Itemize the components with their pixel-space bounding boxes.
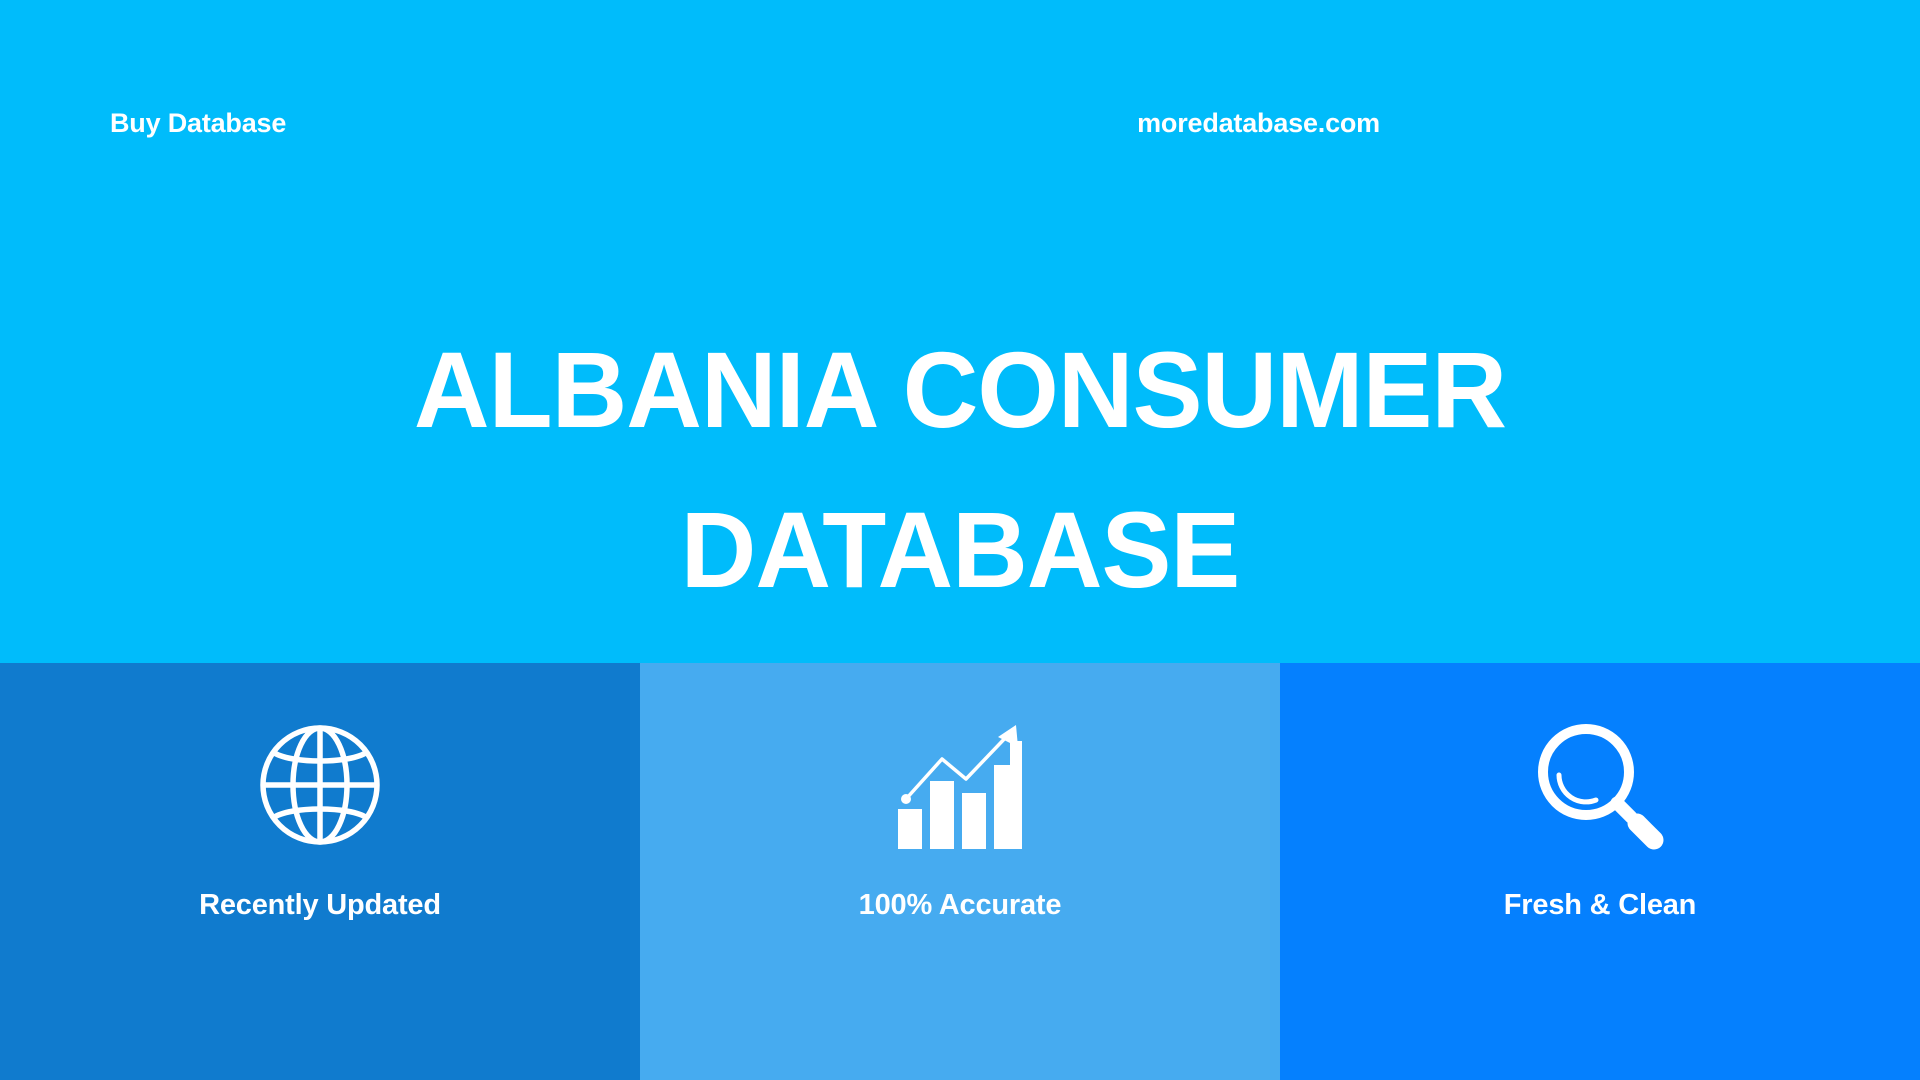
brand-left-label: Buy Database [110,108,286,139]
feature-panel-row: Recently Updated [0,663,1920,1080]
website-url-label: moredatabase.com [1137,108,1380,139]
promo-banner-canvas: Buy Database moredatabase.com ALBANIA CO… [0,0,1920,1080]
growth-chart-icon [892,715,1028,855]
feature-panel-accurate: 100% Accurate [640,663,1280,1080]
feature-panel-recently-updated: Recently Updated [0,663,640,1080]
feature-label-recently-updated: Recently Updated [199,889,441,922]
magnifier-icon [1533,715,1667,855]
globe-icon [256,715,384,855]
page-title: ALBANIA CONSUMER DATABASE [29,310,1891,630]
page-title-line-2: DATABASE [29,470,1891,630]
hero-banner: Buy Database moredatabase.com ALBANIA CO… [0,0,1920,663]
feature-label-accurate: 100% Accurate [859,889,1062,922]
feature-label-fresh-clean: Fresh & Clean [1504,889,1696,922]
page-title-line-1: ALBANIA CONSUMER [29,310,1891,470]
feature-panel-fresh-clean: Fresh & Clean [1280,663,1920,1080]
